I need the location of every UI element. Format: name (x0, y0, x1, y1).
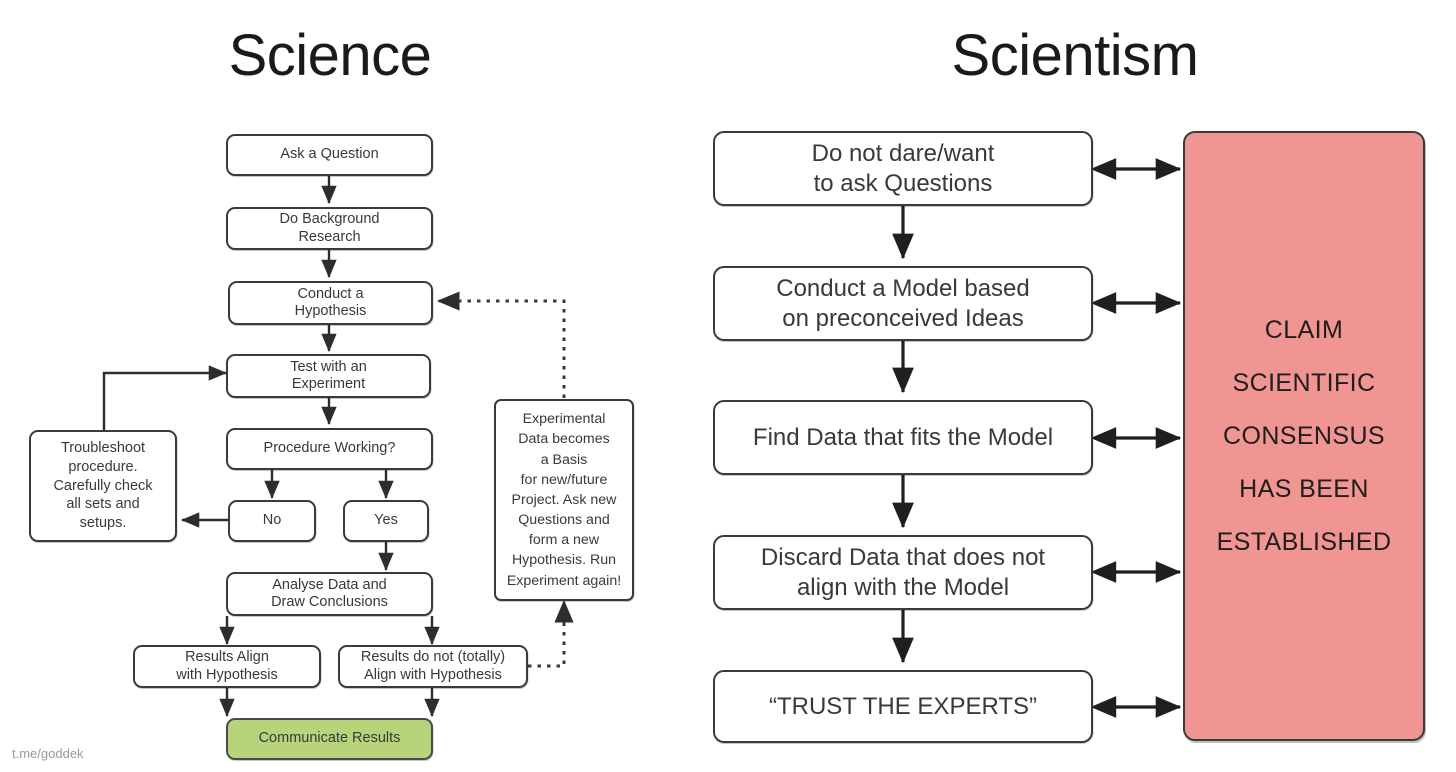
node-do-not-dare-ask-questions[interactable]: Do not dare/wantto ask Questions (713, 131, 1093, 206)
section-title-science: Science (120, 22, 540, 89)
node-procedure-working[interactable]: Procedure Working? (226, 428, 433, 470)
node-no-label: No (258, 512, 287, 529)
node-yes[interactable]: Yes (343, 500, 429, 542)
node-results-do-not-align[interactable]: Results do not (totally)Align with Hypot… (338, 645, 528, 688)
node-discard-data-label: Discard Data that does notalign with the… (756, 543, 1050, 603)
node-yes-label: Yes (369, 512, 403, 529)
node-procedure-working-label: Procedure Working? (259, 440, 401, 457)
node-trust-the-experts-label: “TRUST THE EXPERTS” (764, 692, 1042, 722)
node-discard-data[interactable]: Discard Data that does notalign with the… (713, 535, 1093, 610)
node-ask-a-question[interactable]: Ask a Question (226, 134, 433, 176)
node-no[interactable]: No (228, 500, 316, 542)
node-conduct-a-model[interactable]: Conduct a Model basedon preconceived Ide… (713, 266, 1093, 341)
claim-line-3: CONSENSUS (1223, 424, 1385, 449)
node-do-background-research[interactable]: Do BackgroundResearch (226, 207, 433, 250)
node-troubleshoot-procedure-label: Troubleshootprocedure.Carefully checkall… (48, 439, 157, 533)
diagram-canvas: Science Scientism Ask a Question Do Back… (0, 0, 1456, 772)
claim-line-4: HAS BEEN (1239, 477, 1369, 502)
node-trust-the-experts[interactable]: “TRUST THE EXPERTS” (713, 670, 1093, 743)
node-results-align-label: Results Alignwith Hypothesis (171, 649, 283, 683)
claim-scientific-consensus-panel[interactable]: CLAIM SCIENTIFIC CONSENSUS HAS BEEN ESTA… (1183, 131, 1425, 741)
node-communicate-results[interactable]: Communicate Results (226, 718, 433, 760)
node-analyse-data[interactable]: Analyse Data andDraw Conclusions (226, 572, 433, 616)
claim-line-1: CLAIM (1265, 318, 1343, 343)
expdata-to-hypothesis-dashed-connector (438, 301, 564, 398)
node-do-background-research-label: Do BackgroundResearch (275, 211, 385, 245)
troubleshoot-to-experiment-connector (104, 373, 226, 430)
node-conduct-a-hypothesis-label: Conduct aHypothesis (290, 286, 372, 320)
node-analyse-data-label: Analyse Data andDraw Conclusions (266, 577, 393, 611)
watermark-credit: t.me/goddek (12, 746, 84, 761)
node-conduct-a-hypothesis[interactable]: Conduct aHypothesis (228, 281, 433, 325)
claim-line-2: SCIENTIFIC (1233, 371, 1376, 396)
node-test-with-an-experiment[interactable]: Test with anExperiment (226, 354, 431, 398)
node-ask-a-question-label: Ask a Question (275, 146, 383, 163)
node-experimental-data-label: ExperimentalData becomesa Basisfor new/f… (502, 409, 626, 590)
node-find-data-that-fits-label: Find Data that fits the Model (748, 423, 1058, 453)
node-troubleshoot-procedure[interactable]: Troubleshootprocedure.Carefully checkall… (29, 430, 177, 542)
node-experimental-data-becomes-basis[interactable]: ExperimentalData becomesa Basisfor new/f… (494, 399, 634, 601)
claim-line-5: ESTABLISHED (1217, 530, 1392, 555)
notalign-to-expdata-dashed-connector (528, 601, 564, 666)
node-do-not-dare-ask-questions-label: Do not dare/wantto ask Questions (807, 139, 1000, 199)
node-find-data-that-fits[interactable]: Find Data that fits the Model (713, 400, 1093, 475)
node-communicate-results-label: Communicate Results (254, 730, 406, 747)
claim-panel-double-arrows (1097, 169, 1180, 707)
node-conduct-a-model-label: Conduct a Model basedon preconceived Ide… (771, 274, 1035, 334)
node-test-with-an-experiment-label: Test with anExperiment (285, 359, 372, 393)
node-results-align[interactable]: Results Alignwith Hypothesis (133, 645, 321, 688)
node-results-do-not-align-label: Results do not (totally)Align with Hypot… (356, 649, 510, 683)
section-title-scientism: Scientism (870, 22, 1280, 89)
